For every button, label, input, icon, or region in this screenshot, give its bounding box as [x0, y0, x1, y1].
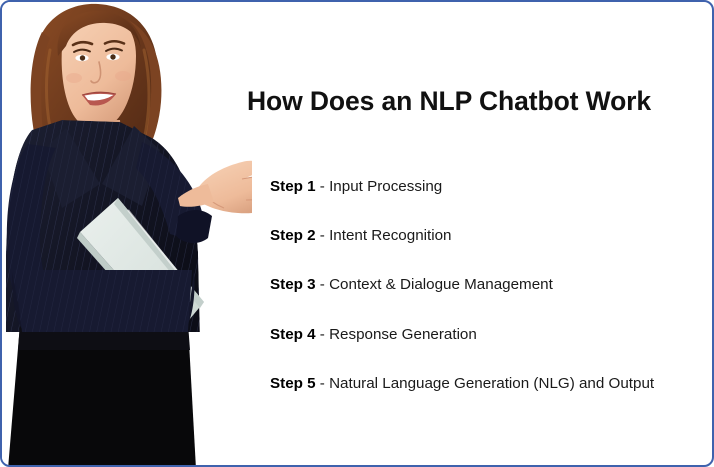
businesswoman-figure [2, 2, 252, 467]
step-separator: - [316, 276, 330, 293]
steps-list: Step 1 - Input Processing Step 2 - Inten… [270, 177, 680, 394]
list-item: Step 5 - Natural Language Generation (NL… [270, 374, 680, 394]
step-label: Step 2 [270, 227, 316, 244]
step-text: Response Generation [329, 326, 477, 343]
step-text: Intent Recognition [329, 227, 451, 244]
page-title: How Does an NLP Chatbot Work [230, 86, 668, 117]
list-item: Step 4 - Response Generation [270, 325, 680, 345]
step-separator: - [316, 375, 330, 392]
content-column: How Does an NLP Chatbot Work Step 1 - In… [230, 2, 700, 467]
step-label: Step 1 [270, 178, 316, 195]
list-item: Step 1 - Input Processing [270, 177, 680, 197]
list-item: Step 3 - Context & Dialogue Management [270, 275, 680, 295]
step-separator: - [316, 178, 330, 195]
step-text: Input Processing [329, 178, 442, 195]
slide-canvas: How Does an NLP Chatbot Work Step 1 - In… [0, 0, 714, 467]
step-label: Step 4 [270, 326, 316, 343]
list-item: Step 2 - Intent Recognition [270, 226, 680, 246]
presenter-illustration [2, 2, 252, 467]
step-text: Natural Language Generation (NLG) and Ou… [329, 375, 654, 392]
step-text: Context & Dialogue Management [329, 276, 553, 293]
step-label: Step 5 [270, 375, 316, 392]
step-label: Step 3 [270, 276, 316, 293]
step-separator: - [316, 227, 330, 244]
step-separator: - [316, 326, 330, 343]
